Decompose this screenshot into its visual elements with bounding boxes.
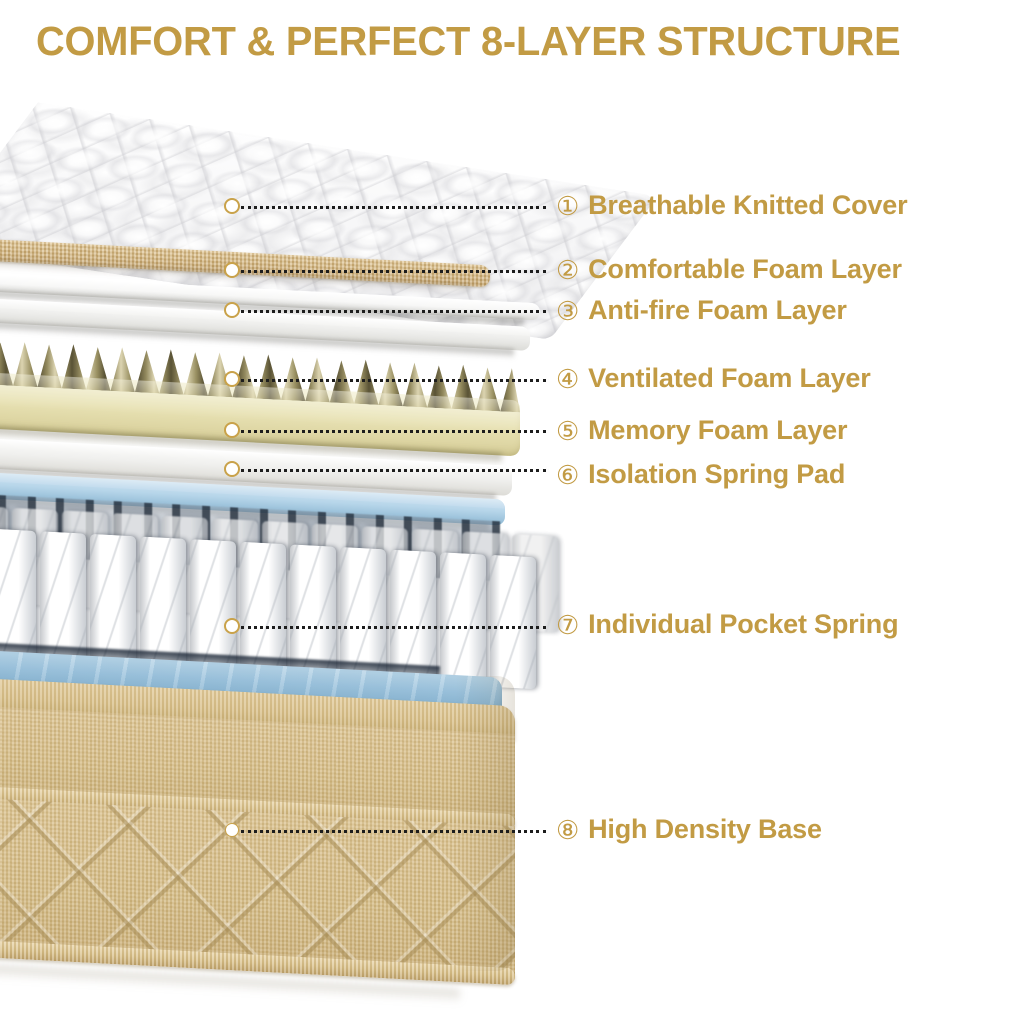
callout-text-1: Breathable Knitted Cover <box>588 190 907 221</box>
pocket-spring-coil <box>490 555 536 689</box>
callout-number-3: ③ <box>556 298 579 324</box>
callout-leader-7 <box>241 626 546 629</box>
mattress-illustration <box>0 0 1024 1024</box>
callout-text-5: Memory Foam Layer <box>588 415 847 446</box>
callout-number-1: ① <box>556 193 579 219</box>
callout-leader-4 <box>241 379 546 382</box>
callout-text-3: Anti-fire Foam Layer <box>588 295 847 326</box>
callout-dot-7[interactable] <box>224 618 240 634</box>
callout-dot-1[interactable] <box>224 198 240 214</box>
callout-dot-8[interactable] <box>225 823 239 837</box>
pocket-spring-coil <box>440 552 486 686</box>
layer-individual-pocket-spring <box>0 492 500 672</box>
callout-label-6[interactable]: ⑥ Isolation Spring Pad <box>556 459 845 490</box>
callout-dot-2[interactable] <box>224 262 240 278</box>
callout-label-2[interactable]: ② Comfortable Foam Layer <box>556 254 902 285</box>
callout-dot-6[interactable] <box>224 461 240 477</box>
callout-number-7: ⑦ <box>556 612 579 638</box>
callout-dot-4[interactable] <box>224 371 240 387</box>
callout-leader-3 <box>241 310 546 313</box>
layer-high-density-base <box>0 676 515 971</box>
callout-label-1[interactable]: ① Breathable Knitted Cover <box>556 190 907 221</box>
callout-number-5: ⑤ <box>556 418 579 444</box>
callout-text-6: Isolation Spring Pad <box>588 459 845 490</box>
callout-label-7[interactable]: ⑦ Individual Pocket Spring <box>556 609 898 640</box>
callout-leader-2 <box>241 270 546 273</box>
callout-number-6: ⑥ <box>556 462 579 488</box>
callout-number-2: ② <box>556 257 579 283</box>
callout-text-8: High Density Base <box>588 814 822 845</box>
layer-breathable-knitted-cover <box>0 86 570 266</box>
callout-leader-8 <box>241 830 546 833</box>
callout-label-4[interactable]: ④ Ventilated Foam Layer <box>556 363 871 394</box>
callout-text-4: Ventilated Foam Layer <box>588 363 870 394</box>
callout-dot-3[interactable] <box>224 302 240 318</box>
callout-text-7: Individual Pocket Spring <box>588 609 898 640</box>
mattress-layer-diagram: COMFORT & PERFECT 8-LAYER STRUCTURE <box>0 0 1024 1024</box>
callout-leader-5 <box>241 430 546 433</box>
callout-leader-1 <box>241 206 546 209</box>
callout-leader-6 <box>241 469 546 472</box>
callout-label-3[interactable]: ③ Anti-fire Foam Layer <box>556 295 847 326</box>
callout-label-5[interactable]: ⑤ Memory Foam Layer <box>556 415 847 446</box>
callout-number-4: ④ <box>556 366 579 392</box>
callout-number-8: ⑧ <box>556 817 579 843</box>
callout-label-8[interactable]: ⑧ High Density Base <box>556 814 822 845</box>
callout-dot-5[interactable] <box>224 422 240 438</box>
callout-text-2: Comfortable Foam Layer <box>588 254 902 285</box>
